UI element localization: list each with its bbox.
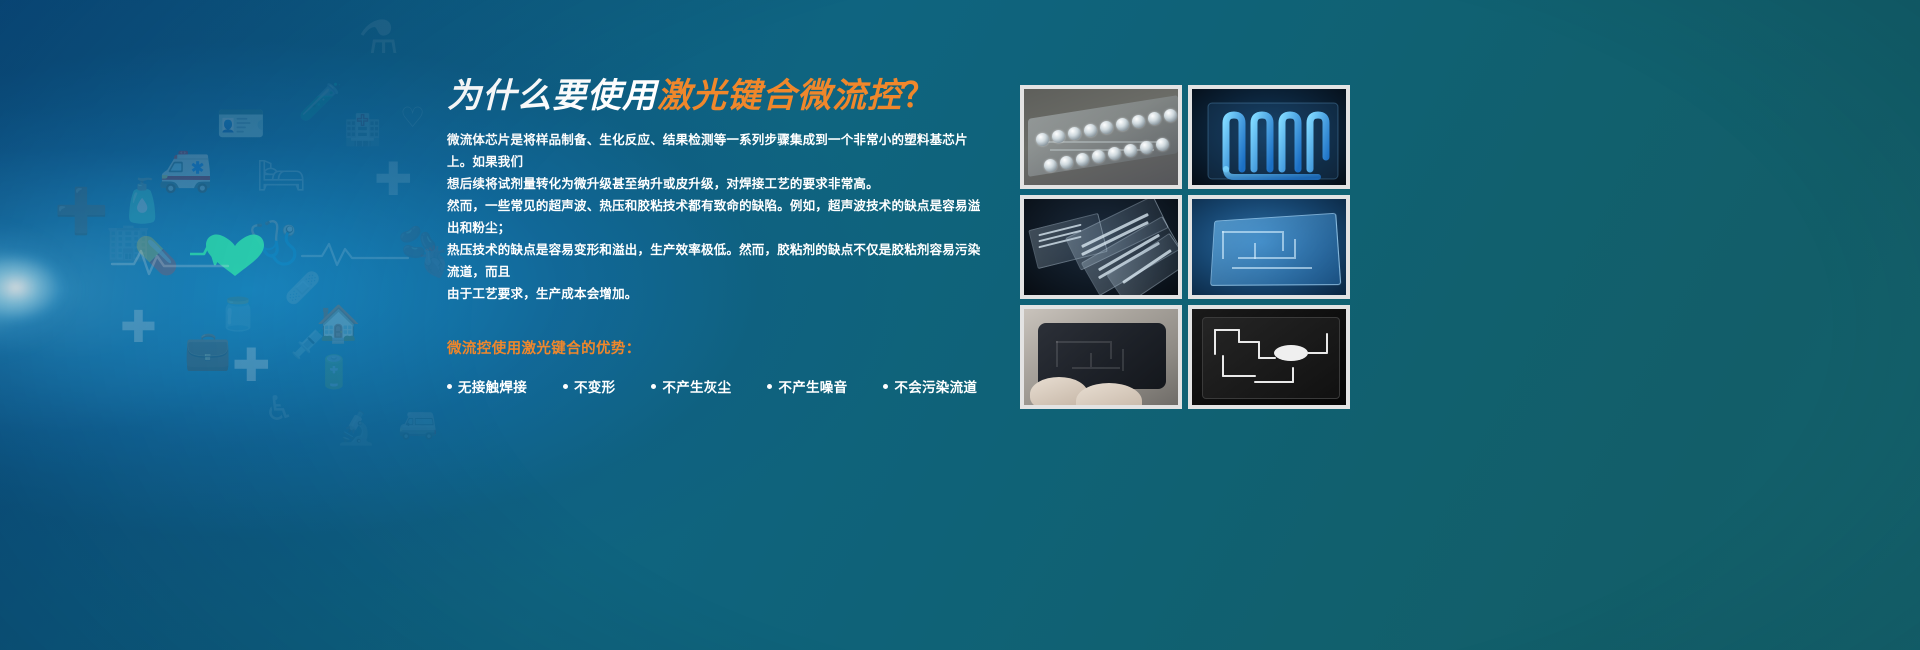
paragraph-line-3: 然而，一些常见的超声波、热压和胶粘技术都有致命的缺陷。例如，超声波技术的缺点是容… [447, 195, 987, 239]
microfluidic-chip-with-round-wells-image [1024, 89, 1178, 185]
clinic-building-icon: 🏢 [106, 224, 151, 260]
home-care-icon: 🏠 [316, 306, 361, 342]
bullet-dot-icon [883, 384, 888, 389]
paragraph-line-1: 微流体芯片是将样品制备、生化反应、结果检测等一系列步骤集成到一个非常小的塑料基芯… [447, 129, 987, 173]
banner-text-content: 为什么要使用激光键合微流控？ 微流体芯片是将样品制备、生化反应、结果检测等一系列… [447, 78, 987, 396]
ecg-line-secondary-icon [300, 238, 410, 268]
first-aid-kit-icon: 💼 [184, 332, 231, 370]
pill-capsule-icon: 💊 [134, 238, 179, 274]
paragraph-line-2: 想后续将试剂量转化为微升级甚至纳升或皮升级，对焊接工艺的要求非常高。 [447, 173, 987, 195]
bandage-icon: 🩹 [284, 274, 321, 304]
id-card-icon: 🪪 [216, 104, 266, 144]
black-cartridge-with-white-channels-image [1192, 309, 1346, 405]
gallery-item-chip-with-wells[interactable] [1020, 85, 1182, 189]
advantages-subheading: 微流控使用激光键合的优势： [447, 337, 987, 358]
microscope-icon: 🔬 [336, 412, 376, 444]
title-question-mark: ？ [902, 77, 937, 115]
gallery-item-black-cartridge[interactable] [1188, 305, 1350, 409]
gallery-item-manifold[interactable] [1188, 195, 1350, 299]
list-item: 不产生噪音 [767, 376, 847, 396]
large-cross-icon: ✚ [232, 342, 271, 388]
blue-transparent-manifold-block-image [1192, 199, 1346, 295]
advantage-label: 不会污染流道 [894, 376, 977, 396]
cross-badge-icon: ✚ [120, 306, 157, 350]
product-image-gallery [1020, 85, 1350, 415]
medical-cross-icon: ➕ [54, 190, 109, 234]
test-tube-icon: 🧪 [298, 84, 343, 120]
advantage-label: 无接触焊接 [458, 376, 527, 396]
hospital-building-icon: 🏥 [344, 116, 381, 146]
medical-van-icon: 🚐 [398, 406, 438, 438]
list-item: 不变形 [563, 376, 615, 396]
list-item: 不产生灰尘 [651, 376, 731, 396]
kidney-icon: 🫘 [398, 226, 438, 258]
ecg-heart-icon [190, 228, 280, 280]
promo-banner: ⚗ 🧪 🏥 🪪 ♡ 🚑 🛏 ✚ 🧴 ➕ 🩺 💊 🏢 🫘 🫀 🩹 🫙 🏠 💉 ✚ … [0, 0, 1920, 650]
flask-icon: ⚗ [358, 14, 399, 60]
bullet-dot-icon [447, 384, 452, 389]
advantage-label: 不产生灰尘 [662, 376, 731, 396]
gallery-item-serpentine-chip[interactable] [1188, 85, 1350, 189]
paragraph-line-4: 热压技术的缺点是容易变形和溢出，生产效率极低。然而，胶粘剂的缺点不仅是胶粘剂容易… [447, 239, 987, 283]
plus-cross-icon: ✚ [374, 156, 413, 202]
stethoscope-icon: 🩺 [248, 222, 300, 264]
light-beam-core [0, 240, 120, 335]
specimen-jar-icon: 🫙 [218, 298, 258, 330]
hospital-bed-icon: 🛏 [256, 156, 307, 196]
small-heart-icon: ♡ [400, 104, 425, 132]
ecg-line-icon [110, 244, 230, 278]
gallery-item-chip-stack[interactable] [1020, 195, 1182, 299]
paragraph-line-5: 由于工艺要求，生产成本会增加。 [447, 283, 987, 305]
title-orange-part: 激光键合微流控 [657, 77, 902, 115]
hand-holding-black-cartridge-image [1024, 309, 1178, 405]
battery-icon: 🔋 [314, 356, 354, 388]
advantages-list: 无接触焊接 不变形 不产生灰尘 不产生噪音 不会污染流道 [447, 376, 987, 396]
light-beam-glow [0, 200, 260, 380]
gallery-item-hand-holding-chip[interactable] [1020, 305, 1182, 409]
body-paragraph: 微流体芯片是将样品制备、生化反应、结果检测等一系列步骤集成到一个非常小的塑料基芯… [447, 129, 987, 305]
ambulance-icon: 🚑 [158, 148, 213, 192]
page-title: 为什么要使用激光键合微流控？ [447, 78, 987, 115]
list-item: 不会污染流道 [883, 376, 977, 396]
syringe-icon: 💉 [290, 326, 330, 358]
title-white-part: 为什么要使用 [447, 77, 657, 115]
list-item: 无接触焊接 [447, 376, 527, 396]
advantage-label: 不产生噪音 [778, 376, 847, 396]
bullet-dot-icon [563, 384, 568, 389]
wheelchair-icon: ♿ [264, 392, 294, 426]
medicine-bottle-icon: 🧴 [116, 180, 168, 222]
advantage-label: 不变形 [574, 376, 615, 396]
blue-serpentine-channel-chip-image [1192, 89, 1346, 185]
stack-of-clear-microfluidic-chips-image [1024, 199, 1178, 295]
bullet-dot-icon [651, 384, 656, 389]
bullet-dot-icon [767, 384, 772, 389]
